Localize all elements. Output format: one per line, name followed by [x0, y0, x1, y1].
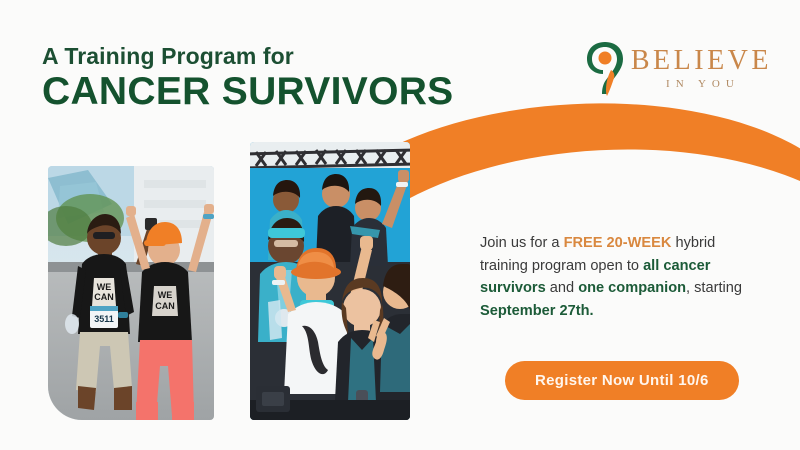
photo-two-women-walking: WE CAN 3511 WE CAN: [48, 166, 214, 420]
svg-text:CAN: CAN: [94, 292, 114, 302]
page-title: CANCER SURVIVORS: [42, 71, 453, 112]
highlight-start-date: September 27th.: [480, 303, 594, 319]
register-now-button[interactable]: Register Now Until 10/6: [505, 361, 739, 400]
logo-wordmark: BELIEVE IN YOU: [631, 47, 772, 90]
svg-text:WE: WE: [97, 282, 112, 292]
body-copy: Join us for a FREE 20-WEEK hybrid traini…: [480, 232, 752, 322]
body-text-conjunction: and: [546, 280, 578, 296]
person-figure-icon: [585, 40, 627, 96]
photo-crowd-celebrating: [250, 142, 410, 420]
logo-tagline: IN YOU: [631, 79, 772, 90]
brand-logo: BELIEVE IN YOU: [585, 40, 772, 96]
promotional-banner: A Training Program for CANCER SURVIVORS …: [0, 0, 800, 450]
svg-text:WE: WE: [158, 290, 173, 300]
highlight-free-20-week: FREE 20-WEEK: [564, 235, 672, 251]
body-text-tail: , starting: [686, 280, 742, 296]
logo-name: BELIEVE: [631, 47, 772, 75]
highlight-one-companion: one companion: [578, 280, 686, 296]
svg-text:CAN: CAN: [155, 301, 175, 311]
photo-right-artwork: [250, 142, 410, 420]
photo-left-artwork: WE CAN 3511 WE CAN: [48, 166, 214, 420]
headline-group: A Training Program for CANCER SURVIVORS: [42, 44, 453, 112]
svg-text:3511: 3511: [94, 314, 114, 324]
headline-eyebrow: A Training Program for: [42, 44, 453, 68]
body-text-intro: Join us for a: [480, 235, 564, 251]
